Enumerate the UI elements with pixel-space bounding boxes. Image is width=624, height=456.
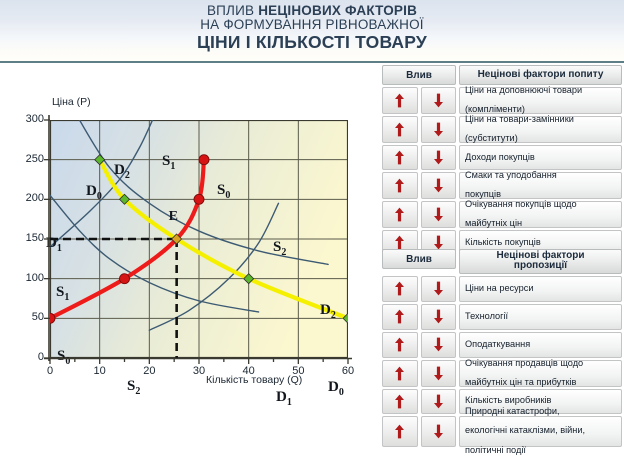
arrow-up-icon <box>394 337 405 352</box>
demand-arrow-down-button[interactable] <box>421 201 457 228</box>
factor-text-line: Ціни на доповнюючі товари <box>465 86 582 96</box>
supply-arrow-up-button[interactable] <box>382 416 418 447</box>
factor-text-line: майбутніх цін <box>465 219 577 229</box>
influence-cell <box>382 87 456 114</box>
demand-factor-label[interactable]: Ціни на доповнюючі товари(компліменти) <box>459 87 622 114</box>
factor-text-line: Доходи покупців <box>465 153 535 163</box>
supply-arrow-down-button[interactable] <box>421 389 457 414</box>
supply-factors-table: Влив Нецінові фактори пропозиції Ціни на… <box>382 249 622 449</box>
supply-arrow-down-button[interactable] <box>421 360 457 387</box>
arrow-up-icon <box>394 235 405 250</box>
plot-area: D0D1D2D1D2D0S0S1S1S0S2S2E <box>50 120 348 358</box>
arrow-up-icon <box>394 93 405 108</box>
supply-arrow-down-button[interactable] <box>421 416 457 447</box>
influence-cell <box>382 116 456 143</box>
supply-header-factors-line1: Нецінові фактори <box>496 250 584 261</box>
data-point-s0 <box>199 155 209 165</box>
table-row: Природні катастрофи,екологічні катаклізм… <box>382 416 622 447</box>
curve-label-s2: S2 <box>127 378 140 397</box>
table-row: Доходи покупців <box>382 145 622 170</box>
factor-text-line: Ціни на товари-замінники <box>465 115 574 125</box>
supply-rows: Ціни на ресурсиТехнологіїОподаткуванняОч… <box>382 276 622 447</box>
x-tick-label: 10 <box>88 365 112 377</box>
factor-text-line: Смаки та уподобання <box>465 171 557 181</box>
curve-label-s2: S2 <box>273 239 286 258</box>
title-line-2: НА ФОРМУВАННЯ РІВНОВАЖНОЇ <box>0 18 624 32</box>
arrow-down-icon <box>433 424 444 439</box>
influence-cell <box>382 416 456 447</box>
arrow-up-icon <box>394 178 405 193</box>
supply-factor-label[interactable]: Очікування продавців щодомайбутніх цін т… <box>459 360 622 387</box>
supply-arrow-up-button[interactable] <box>382 276 418 302</box>
table-row: Оподаткування <box>382 332 622 358</box>
x-tick-label: 30 <box>187 365 211 377</box>
y-tick-label: 100 <box>14 272 44 284</box>
y-tick-label: 200 <box>14 192 44 204</box>
demand-arrow-up-button[interactable] <box>382 116 418 143</box>
demand-factor-label[interactable]: Смаки та уподобанняпокупців <box>459 172 622 199</box>
influence-cell <box>382 360 456 387</box>
table-row: Очікування продавців щодомайбутніх цін т… <box>382 360 622 387</box>
y-axis-title: Ціна (P) <box>52 96 91 108</box>
arrow-down-icon <box>433 122 444 137</box>
supply-arrow-down-button[interactable] <box>421 332 457 358</box>
demand-arrow-up-button[interactable] <box>382 145 418 170</box>
factor-text-line: Очікування продавців щодо <box>465 359 583 369</box>
demand-arrow-up-button[interactable] <box>382 201 418 228</box>
table-row: Смаки та уподобанняпокупців <box>382 172 622 199</box>
y-tick-label: 50 <box>14 311 44 323</box>
curve-label-s0: S0 <box>217 182 230 201</box>
slide-header: ВПЛИВ НЕЦІНОВИХ ФАКТОРІВ НА ФОРМУВАННЯ Р… <box>0 0 624 63</box>
factor-text-line: майбутніх цін та прибутків <box>465 378 583 388</box>
title-line-3: ЦІНИ І КІЛЬКОСТІ ТОВАРУ <box>0 32 624 51</box>
demand-rows: Ціни на доповнюючі товари(компліменти)Ці… <box>382 87 622 255</box>
table-row: Очікування покупців щодомайбутніх цін <box>382 201 622 228</box>
supply-factor-label[interactable]: Технології <box>459 304 622 330</box>
demand-arrow-down-button[interactable] <box>421 145 457 170</box>
table-row: Ціни на ресурси <box>382 276 622 302</box>
title-line-1-prefix: ВПЛИВ <box>207 3 258 18</box>
plot-svg <box>50 120 348 358</box>
factor-text-line: Кількість покупців <box>465 238 541 248</box>
demand-arrow-up-button[interactable] <box>382 172 418 199</box>
x-tick-label: 20 <box>137 365 161 377</box>
curve-label-d2: D2 <box>320 302 336 321</box>
x-tick-label: 40 <box>237 365 261 377</box>
factor-text-line: Технології <box>465 312 508 322</box>
supply-table-header: Влив Нецінові фактори пропозиції <box>382 249 622 274</box>
curve-label-d0: D0 <box>86 183 102 202</box>
title-line-1-bold: НЕЦІНОВИХ ФАКТОРІВ <box>258 3 417 18</box>
arrow-up-icon <box>394 394 405 409</box>
influence-cell <box>382 145 456 170</box>
arrow-up-icon <box>394 207 405 222</box>
arrow-up-icon <box>394 122 405 137</box>
supply-header-factors: Нецінові фактори пропозиції <box>459 249 622 274</box>
arrow-down-icon <box>433 309 444 324</box>
arrow-down-icon <box>433 366 444 381</box>
arrow-down-icon <box>433 281 444 296</box>
factor-text-line: Очікування покупців щодо <box>465 200 577 210</box>
demand-arrow-down-button[interactable] <box>421 172 457 199</box>
supply-arrow-down-button[interactable] <box>421 276 457 302</box>
curve-label-d1: D1 <box>276 389 292 408</box>
arrow-up-icon <box>394 366 405 381</box>
table-row: Ціни на товари-замінники(субститути) <box>382 116 622 143</box>
factor-text-line: Ціни на ресурси <box>465 284 533 294</box>
supply-arrow-up-button[interactable] <box>382 360 418 387</box>
data-point-s0 <box>120 274 130 284</box>
arrow-down-icon <box>433 337 444 352</box>
arrow-up-icon <box>394 309 405 324</box>
arrow-down-icon <box>433 93 444 108</box>
demand-factor-label[interactable]: Очікування покупців щодомайбутніх цін <box>459 201 622 228</box>
influence-cell <box>382 304 456 330</box>
supply-header-influence: Влив <box>382 249 456 269</box>
y-tick-label: 250 <box>14 153 44 165</box>
supply-header-factors-line2: пропозиції <box>514 260 567 271</box>
curve-label-d0: D0 <box>328 379 344 398</box>
supply-arrow-up-button[interactable] <box>382 304 418 330</box>
demand-arrow-down-button[interactable] <box>421 87 457 114</box>
demand-arrow-down-button[interactable] <box>421 116 457 143</box>
factor-text-line: політичні події <box>465 446 585 456</box>
demand-table-header: Влив Нецінові фактори попиту <box>382 65 622 85</box>
demand-factor-label[interactable]: Ціни на товари-замінники(субститути) <box>459 116 622 143</box>
data-point-s0 <box>194 194 204 204</box>
influence-cell <box>382 201 456 228</box>
factor-text-line: Оподаткування <box>465 340 530 350</box>
factor-text-line: (субститути) <box>465 134 574 144</box>
influence-cell <box>382 389 456 414</box>
curve-label-d2: D2 <box>114 162 130 181</box>
curve-label-d1: D1 <box>46 235 62 254</box>
equilibrium-label: E <box>169 209 178 225</box>
arrow-down-icon <box>433 394 444 409</box>
arrow-up-icon <box>394 424 405 439</box>
x-tick-label: 50 <box>286 365 310 377</box>
curve-label-s1: S1 <box>56 284 69 303</box>
arrow-down-icon <box>433 178 444 193</box>
supply-factor-label[interactable]: Оподаткування <box>459 332 622 358</box>
influence-cell <box>382 332 456 358</box>
arrow-down-icon <box>433 235 444 250</box>
factors-panels: Влив Нецінові фактори попиту Ціни на доп… <box>378 63 624 442</box>
influence-cell <box>382 172 456 199</box>
title-line-1: ВПЛИВ НЕЦІНОВИХ ФАКТОРІВ <box>0 2 624 18</box>
y-tick-label: 300 <box>14 113 44 125</box>
demand-arrow-up-button[interactable] <box>382 87 418 114</box>
curve-label-s0: S0 <box>57 348 70 367</box>
page-title: ВПЛИВ НЕЦІНОВИХ ФАКТОРІВ НА ФОРМУВАННЯ Р… <box>0 2 624 51</box>
table-row: Ціни на доповнюючі товари(компліменти) <box>382 87 622 114</box>
supply-factor-label[interactable]: Природні катастрофи,екологічні катаклізм… <box>459 416 622 447</box>
supply-arrow-down-button[interactable] <box>421 304 457 330</box>
supply-demand-chart: Ціна (P) Кількість товару (Q) 0501001502… <box>0 63 378 442</box>
factor-text-line: Кількість виробників <box>465 396 551 406</box>
influence-cell <box>382 276 456 302</box>
x-tick-label: 60 <box>336 365 360 377</box>
supply-factor-label[interactable]: Ціни на ресурси <box>459 276 622 302</box>
arrow-up-icon <box>394 150 405 165</box>
demand-factor-label[interactable]: Доходи покупців <box>459 145 622 170</box>
arrow-down-icon <box>433 150 444 165</box>
supply-arrow-up-button[interactable] <box>382 332 418 358</box>
arrow-up-icon <box>394 281 405 296</box>
demand-header-influence: Влив <box>382 65 456 85</box>
factor-text-line: екологічні катаклізми, війни, <box>465 426 585 436</box>
y-tick-label: 0 <box>14 351 44 363</box>
demand-factors-table: Влив Нецінові фактори попиту Ціни на доп… <box>382 65 622 257</box>
curve-label-s1: S1 <box>162 153 175 172</box>
table-row: Технології <box>382 304 622 330</box>
y-tick-label: 150 <box>14 232 44 244</box>
supply-arrow-up-button[interactable] <box>382 389 418 414</box>
arrow-down-icon <box>433 207 444 222</box>
factor-text-line: Природні катастрофи, <box>465 407 585 417</box>
demand-header-factors: Нецінові фактори попиту <box>459 65 622 85</box>
